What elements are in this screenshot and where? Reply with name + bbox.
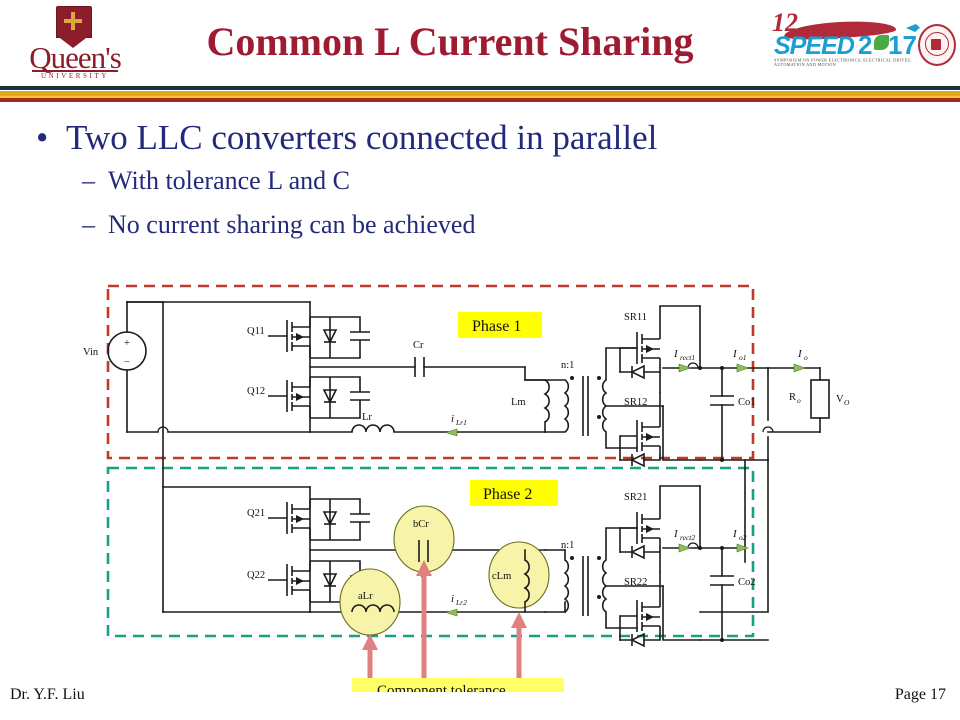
cLm-label: cLm: [492, 571, 511, 582]
Io1-subscript: o1: [739, 353, 747, 362]
slide-header: Queen's UNIVERSITY Common L Current Shar…: [0, 0, 960, 104]
turns-ratio-2: n:1: [561, 540, 574, 551]
dash-glyph: –: [82, 210, 108, 240]
capacitor-Co1: Co1: [710, 366, 756, 462]
bullet-glyph: •: [36, 118, 66, 158]
Vo-subscript: O: [844, 398, 850, 407]
Ro-subscript: o: [797, 396, 801, 405]
Q12-label: Q12: [247, 386, 265, 397]
resistor-Ro-symbol: [811, 380, 829, 418]
mosfet-SR12: SR12: [620, 392, 660, 466]
speed-tagline: SYMPOSIUM ON POWER ELECTRONICS, ELECTRIC…: [774, 58, 930, 67]
queens-university-logo: Queen's UNIVERSITY: [14, 4, 134, 84]
speed-year-prefix: 2: [858, 30, 872, 61]
inductor-Lm: Lm: [511, 380, 549, 432]
university-seal-icon: [918, 24, 956, 66]
bullet-level2-0-text: With tolerance L and C: [108, 166, 350, 195]
Io-subscript: o: [804, 353, 808, 362]
inductor-Lr: Lr: [352, 412, 394, 432]
mosfet-SR11: SR11: [620, 306, 660, 378]
speed-year-suffix: 17: [888, 30, 917, 61]
phase1-label: Phase 1: [472, 318, 521, 335]
transformer-phase1: n:1: [561, 360, 606, 436]
tolerance-arrow-aLr: [362, 634, 378, 682]
Ro-symbol: R: [789, 392, 796, 403]
iLr1-subscript: Lr1: [455, 418, 467, 427]
mosfet-Q11: Q11: [247, 317, 370, 358]
Io2-symbol: I: [732, 528, 738, 540]
dash-glyph: –: [82, 166, 108, 196]
turns-ratio-1: n:1: [561, 360, 574, 371]
mosfet-SR21: SR21: [620, 486, 660, 558]
header-rule-teal: [0, 86, 960, 90]
Q11-label: Q11: [247, 326, 265, 337]
phase2-circuit: Q21 Q22 bCr +: [163, 480, 768, 646]
Io2-subscript: o2: [739, 533, 747, 542]
footer-author: Dr. Y.F. Liu: [10, 686, 85, 704]
bullet-level1-text: Two LLC converters connected in parallel: [66, 118, 657, 157]
Irect1-subscript: rect1: [680, 353, 695, 362]
circuit-diagram: Vin + − Q11: [0, 272, 960, 692]
iLr2-subscript: Lr2: [455, 598, 467, 607]
vin-label: Vin: [83, 347, 99, 358]
footer-page-number: Page 17: [895, 686, 946, 704]
leaf-icon: [874, 35, 889, 50]
bullet-level2-1: –No current sharing can be achieved: [82, 210, 475, 240]
highlight-aLr: [340, 569, 400, 635]
aLr-label: aLr: [358, 591, 373, 602]
bullet-level2-1-text: No current sharing can be achieved: [108, 210, 475, 239]
Cr-label: Cr: [413, 340, 424, 351]
Lr-label: Lr: [362, 412, 372, 423]
tolerance-arrow-cLm: [511, 612, 527, 682]
page-title: Common L Current Sharing: [150, 18, 750, 65]
SR22-label: SR22: [624, 577, 647, 588]
Q22-label: Q22: [247, 570, 265, 581]
iLr1-symbol: i: [451, 413, 454, 425]
Vo-symbol: V: [836, 394, 844, 405]
Irect2-subscript: rect2: [680, 533, 695, 542]
Co1-label: Co1: [738, 397, 756, 408]
Io-symbol: I: [797, 348, 803, 360]
tolerance-label: Component tolerance: [377, 683, 506, 692]
iLr2-symbol: i: [451, 593, 454, 605]
capacitor-Co2: Co2: [710, 546, 756, 642]
speed-wordmark: SPEED: [774, 32, 854, 61]
Co2-label: Co2: [738, 577, 756, 588]
queens-wordmark: Queen's: [16, 42, 134, 73]
header-rule-gold-thin: [0, 96, 960, 98]
bullet-level2-0: –With tolerance L and C: [82, 166, 350, 196]
capacitor-Cr: Cr: [413, 340, 525, 377]
bCr-label: bCr: [413, 519, 429, 530]
vin-plus: +: [124, 338, 130, 349]
bullet-level1: •Two LLC converters connected in paralle…: [36, 118, 657, 158]
SR11-label: SR11: [624, 312, 647, 323]
vin-minus: −: [124, 357, 130, 368]
transformer-phase2: n:1: [561, 540, 606, 616]
SR12-label: SR12: [624, 397, 647, 408]
mosfet-Q21: Q21: [247, 499, 370, 540]
Irect2-symbol: I: [673, 528, 679, 540]
Q21-label: Q21: [247, 508, 265, 519]
queens-subtitle: UNIVERSITY: [16, 72, 134, 80]
Io1-symbol: I: [732, 348, 738, 360]
SR21-label: SR21: [624, 492, 647, 503]
speed-conference-logo: 12 SPEED 2 17 SYMPOSIUM ON POWER ELECTRO…: [770, 8, 920, 70]
Irect1-symbol: I: [673, 348, 679, 360]
phase2-label: Phase 2: [483, 486, 532, 503]
Lm-label: Lm: [511, 397, 526, 408]
mosfet-Q12: Q12: [247, 377, 370, 418]
